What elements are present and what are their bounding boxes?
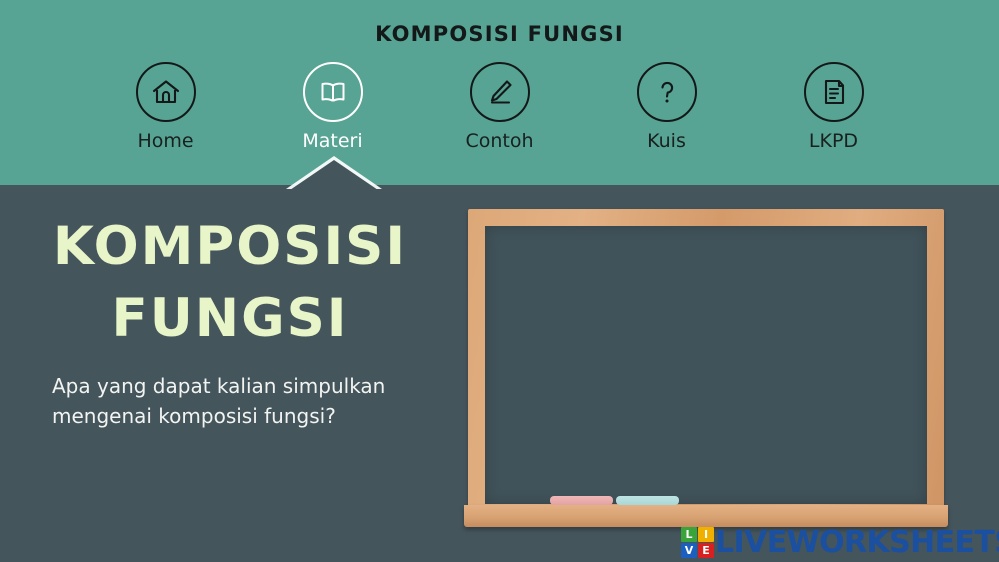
chalkboard-ledge bbox=[464, 505, 948, 527]
nav-item-kuis[interactable]: Kuis bbox=[583, 62, 750, 152]
logo-cell-e: E bbox=[698, 543, 714, 558]
nav-circle-kuis bbox=[637, 62, 697, 122]
nav-item-materi[interactable]: Materi bbox=[249, 62, 416, 152]
chalkboard-frame bbox=[468, 209, 944, 521]
nav-label-lkpd: LKPD bbox=[809, 130, 858, 152]
pencil-icon bbox=[484, 76, 516, 108]
main-heading: KOMPOSISI FUNGSI bbox=[0, 211, 460, 355]
nav-item-lkpd[interactable]: LKPD bbox=[750, 62, 917, 152]
nav-label-kuis: Kuis bbox=[647, 130, 686, 152]
chalkboard-surface bbox=[485, 226, 927, 504]
header-bar: KOMPOSISI FUNGSI Home bbox=[0, 0, 999, 185]
liveworksheets-logo-icon: L I V E bbox=[681, 527, 714, 558]
main-heading-line1: KOMPOSISI bbox=[53, 216, 407, 277]
nav-label-contoh: Contoh bbox=[465, 130, 533, 152]
book-icon bbox=[317, 76, 349, 108]
nav-label-materi: Materi bbox=[302, 130, 362, 152]
main-navigation: Home Materi bbox=[0, 62, 999, 167]
left-content-column: KOMPOSISI FUNGSI Apa yang dapat kalian s… bbox=[0, 185, 460, 431]
main-heading-line2: FUNGSI bbox=[0, 283, 460, 355]
nav-label-home: Home bbox=[137, 130, 193, 152]
active-tab-pointer bbox=[290, 160, 378, 190]
chalk-blue bbox=[616, 496, 679, 505]
nav-circle-home bbox=[136, 62, 196, 122]
home-icon bbox=[150, 76, 182, 108]
nav-item-contoh[interactable]: Contoh bbox=[416, 62, 583, 152]
logo-cell-i: I bbox=[698, 527, 714, 542]
logo-cell-v: V bbox=[681, 543, 697, 558]
slide-canvas: KOMPOSISI FUNGSI Home bbox=[0, 0, 999, 562]
chalkboard bbox=[468, 209, 944, 521]
nav-circle-lkpd bbox=[804, 62, 864, 122]
nav-circle-materi bbox=[303, 62, 363, 122]
question-icon bbox=[651, 76, 683, 108]
watermark-text: LIVEWORKSHEETS bbox=[715, 525, 999, 560]
nav-circle-contoh bbox=[470, 62, 530, 122]
document-icon bbox=[818, 76, 850, 108]
logo-cell-l: L bbox=[681, 527, 697, 542]
nav-item-home[interactable]: Home bbox=[82, 62, 249, 152]
body-question-text: Apa yang dapat kalian simpulkan mengenai… bbox=[52, 371, 432, 431]
chalk-pink bbox=[550, 496, 613, 505]
page-title: KOMPOSISI FUNGSI bbox=[0, 22, 999, 46]
liveworksheets-watermark: L I V E LIVEWORKSHEETS bbox=[681, 525, 999, 560]
